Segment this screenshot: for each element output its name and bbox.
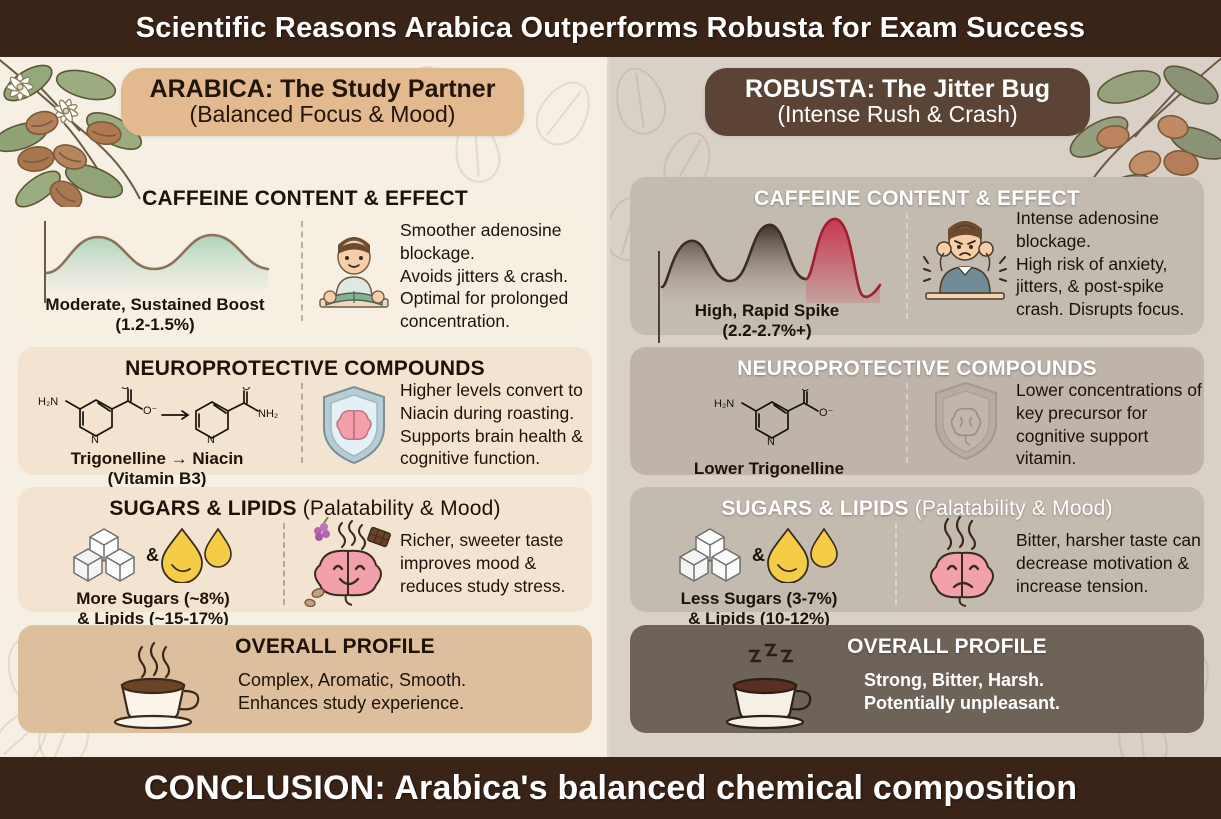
arabica-section-overall[interactable]: OVERALL PROFILE Complex, Ar bbox=[18, 625, 592, 733]
coffee-cup-jitter-icon bbox=[718, 639, 818, 731]
column-arabica: ARABICA: The Study Partner (Balanced Foc… bbox=[0, 57, 610, 757]
neuro-caption-line1: Trigonelline → Niacin bbox=[22, 449, 292, 469]
footer-bar: CONCLUSION: Arabica's balanced chemical … bbox=[0, 757, 1221, 819]
brain-shield-icon bbox=[318, 383, 390, 467]
caffeine-description: Smoother adenosine blockage. Avoids jitt… bbox=[400, 219, 596, 333]
caffeine-caption-line2: (1.2-1.5%) bbox=[24, 315, 286, 335]
brain-shield-faded-icon bbox=[930, 379, 1002, 465]
section-divider bbox=[301, 221, 303, 321]
sugars-caption-line1: More Sugars (~8%) bbox=[28, 589, 278, 609]
robusta-heading-pill: ROBUSTA: The Jitter Bug (Intense Rush & … bbox=[705, 68, 1090, 136]
section-divider bbox=[301, 383, 303, 463]
section-divider bbox=[906, 213, 908, 319]
robusta-section-caffeine[interactable]: CAFFEINE CONTENT & EFFECT bbox=[630, 177, 1204, 335]
section-title-main: SUGARS & LIPIDS bbox=[109, 497, 302, 520]
ampersand-label: & bbox=[146, 545, 159, 565]
arabica-section-sugars[interactable]: SUGARS & LIPIDS (Palatability & Mood) bbox=[18, 487, 592, 612]
trigonelline-structure-icon: H₂N O O⁻ N bbox=[714, 389, 844, 445]
chart-axis bbox=[44, 221, 46, 303]
section-title: CAFFEINE CONTENT & EFFECT bbox=[18, 187, 592, 211]
sugar-cubes-and-oil-drops-icon: & bbox=[68, 527, 238, 583]
sugars-description: Richer, sweeter taste improves mood & re… bbox=[400, 529, 596, 597]
bean-watermark bbox=[526, 72, 602, 155]
section-title: NEUROPROTECTIVE COMPOUNDS bbox=[630, 357, 1204, 381]
robusta-section-neuroprotective[interactable]: NEUROPROTECTIVE COMPOUNDS bbox=[630, 347, 1204, 475]
neuro-caption-line1: Lower Trigonelline bbox=[634, 459, 904, 479]
chem-amine-label: H₂N bbox=[38, 396, 58, 408]
caffeine-caption-line1: Moderate, Sustained Boost bbox=[24, 295, 286, 315]
neuro-description: Lower concentrations of key precursor fo… bbox=[1016, 379, 1216, 470]
arabica-heading-line1: ARABICA: The Study Partner bbox=[121, 76, 524, 103]
robusta-section-sugars[interactable]: SUGARS & LIPIDS (Palatability & Mood) bbox=[630, 487, 1204, 612]
conclusion-text: CONCLUSION: Arabica's balanced chemical … bbox=[144, 769, 1077, 808]
svg-text:O: O bbox=[121, 387, 130, 392]
section-divider bbox=[895, 523, 897, 605]
svg-text:NH₂: NH₂ bbox=[258, 408, 278, 420]
bean-watermark bbox=[610, 62, 672, 141]
sugars-description: Bitter, harsher taste can decrease motiv… bbox=[1016, 529, 1216, 597]
sad-brain-icon bbox=[918, 515, 1008, 607]
svg-text:N: N bbox=[207, 434, 215, 443]
svg-text:&: & bbox=[752, 545, 765, 565]
infographic-root: Scientific Reasons Arabica Outperforms R… bbox=[0, 0, 1221, 819]
section-divider bbox=[906, 383, 908, 463]
sugars-caption-line1: Less Sugars (3-7%) bbox=[634, 589, 884, 609]
arabica-section-caffeine[interactable]: CAFFEINE CONTENT & EFFECT bbox=[18, 207, 592, 335]
section-title-main: SUGARS & LIPIDS bbox=[721, 497, 914, 520]
svg-text:N: N bbox=[91, 434, 99, 443]
chart-axis bbox=[658, 251, 660, 343]
svg-text:H₂N: H₂N bbox=[714, 398, 734, 410]
caffeine-caption-line2: (2.2-2.7%+) bbox=[636, 321, 898, 341]
trigonelline-to-niacin-structure-icon: H₂N O O⁻ N O NH₂ N bbox=[36, 387, 282, 443]
stressed-person-icon bbox=[922, 211, 1008, 307]
happy-brain-icon bbox=[298, 517, 398, 607]
overall-description: Strong, Bitter, Harsh. Potentially unple… bbox=[864, 669, 1184, 716]
arabica-heading-pill: ARABICA: The Study Partner (Balanced Foc… bbox=[121, 68, 524, 136]
page-title: Scientific Reasons Arabica Outperforms R… bbox=[136, 12, 1086, 45]
sugar-cubes-and-oil-drops-icon: & bbox=[674, 527, 844, 583]
svg-text:O: O bbox=[801, 389, 810, 394]
arabica-heading-line2: (Balanced Focus & Mood) bbox=[121, 102, 524, 128]
svg-text:N: N bbox=[767, 436, 775, 445]
robusta-section-overall[interactable]: OVERALL PROFILE Strong, Bit bbox=[630, 625, 1204, 733]
section-divider bbox=[283, 523, 285, 605]
arabica-section-neuroprotective[interactable]: NEUROPROTECTIVE COMPOUNDS bbox=[18, 347, 592, 475]
title-bar: Scientific Reasons Arabica Outperforms R… bbox=[0, 0, 1221, 57]
caffeine-curve-smooth-icon bbox=[42, 217, 274, 291]
coffee-cup-steam-icon bbox=[106, 639, 206, 729]
column-robusta: ROBUSTA: The Jitter Bug (Intense Rush & … bbox=[610, 57, 1221, 757]
robusta-heading-line1: ROBUSTA: The Jitter Bug bbox=[705, 76, 1090, 103]
student-reading-book-icon bbox=[316, 225, 392, 315]
caffeine-description: Intense adenosine blockage. High risk of… bbox=[1016, 207, 1214, 321]
section-title: NEUROPROTECTIVE COMPOUNDS bbox=[18, 357, 592, 381]
overall-description: Complex, Aromatic, Smooth. Enhances stud… bbox=[238, 669, 568, 716]
svg-text:O: O bbox=[242, 387, 251, 393]
body-area: ARABICA: The Study Partner (Balanced Foc… bbox=[0, 57, 1221, 757]
svg-text:O⁻: O⁻ bbox=[143, 405, 158, 417]
svg-text:O⁻: O⁻ bbox=[819, 407, 834, 419]
caffeine-curve-spike-icon bbox=[654, 215, 886, 305]
robusta-heading-line2: (Intense Rush & Crash) bbox=[705, 102, 1090, 128]
neuro-description: Higher levels convert to Niacin during r… bbox=[400, 379, 596, 470]
section-title: SUGARS & LIPIDS (Palatability & Mood) bbox=[630, 497, 1204, 521]
